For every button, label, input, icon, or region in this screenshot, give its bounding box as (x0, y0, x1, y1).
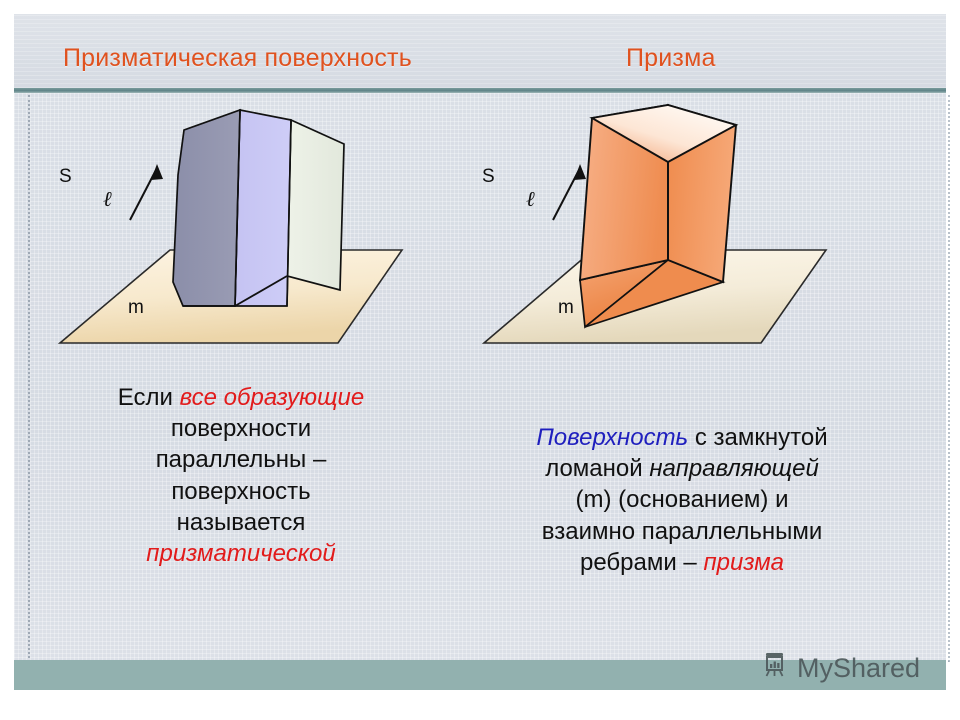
text-line: (m) (основанием) и (472, 484, 892, 515)
text-run: (m) (основанием) и (576, 486, 789, 513)
text-run: называется (177, 509, 306, 536)
text-line: Поверхность с замкнутой (472, 422, 892, 453)
prism-svg (468, 100, 888, 370)
prismatic-surface-svg (55, 100, 455, 370)
prismatic-surface-figure: S ℓ m (55, 100, 455, 370)
header-divider-rule (14, 88, 946, 93)
text-run: поверхности (171, 415, 311, 442)
text-run: взаимно параллельными (542, 518, 823, 545)
text-line: поверхность (46, 476, 436, 507)
text-line: называется (46, 507, 436, 538)
label-l-left: ℓ (103, 187, 112, 212)
label-l-right: ℓ (526, 187, 535, 212)
text-run: призматической (146, 540, 335, 567)
text-line: ломаной направляющей (472, 453, 892, 484)
text-line: призматической (46, 538, 436, 569)
text-run: направляющей (649, 455, 818, 482)
definition-text-left: Если все образующиеповерхностипараллельн… (46, 382, 436, 569)
prism-figure: S ℓ m (468, 100, 888, 370)
label-m-left: m (128, 297, 144, 319)
text-line: Если все образующие (46, 382, 436, 413)
text-run: ребрами – (580, 549, 703, 576)
slide-root: Призматическая поверхность Призма (0, 0, 960, 720)
text-run: Если (118, 384, 180, 411)
label-m-right: m (558, 297, 574, 319)
text-line: поверхности (46, 413, 436, 444)
myshared-watermark: MyShared (760, 650, 920, 687)
text-run: Поверхность (536, 424, 688, 451)
text-run: поверхность (171, 478, 310, 505)
text-run: параллельны – (156, 446, 327, 473)
generator-direction-arrow-right (553, 164, 586, 220)
label-s-left: S (59, 166, 72, 188)
watermark-label: MyShared (797, 653, 920, 684)
page-title-right: Призма (626, 44, 716, 73)
text-line: параллельны – (46, 444, 436, 475)
text-run: призма (703, 549, 784, 576)
prismatic-surface-body (173, 110, 344, 306)
text-line: взаимно параллельными (472, 516, 892, 547)
generator-direction-arrow-left (130, 164, 163, 220)
text-line: ребрами – призма (472, 547, 892, 578)
presentation-chart-icon (760, 650, 790, 687)
text-run: все образующие (180, 384, 365, 411)
page-title-left: Призматическая поверхность (63, 44, 412, 73)
label-s-right: S (482, 166, 495, 188)
text-run: с замкнутой (688, 424, 827, 451)
definition-text-right: Поверхность с замкнутойломаной направляю… (472, 422, 892, 578)
text-run: ломаной (545, 455, 649, 482)
